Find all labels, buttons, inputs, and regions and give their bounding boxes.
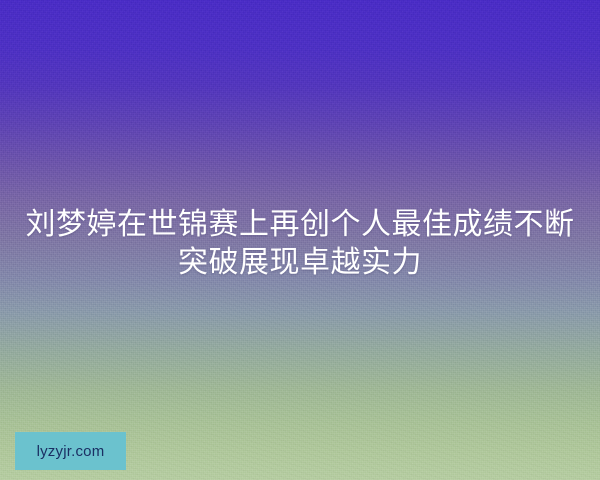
headline-text: 刘梦婷在世锦赛上再创个人最佳成绩不断 突破展现卓越实力	[0, 206, 600, 282]
poster-canvas: 刘梦婷在世锦赛上再创个人最佳成绩不断 突破展现卓越实力 lyzyjr.com	[0, 0, 600, 480]
watermark-badge: lyzyjr.com	[15, 432, 126, 470]
watermark-label: lyzyjr.com	[37, 444, 105, 459]
